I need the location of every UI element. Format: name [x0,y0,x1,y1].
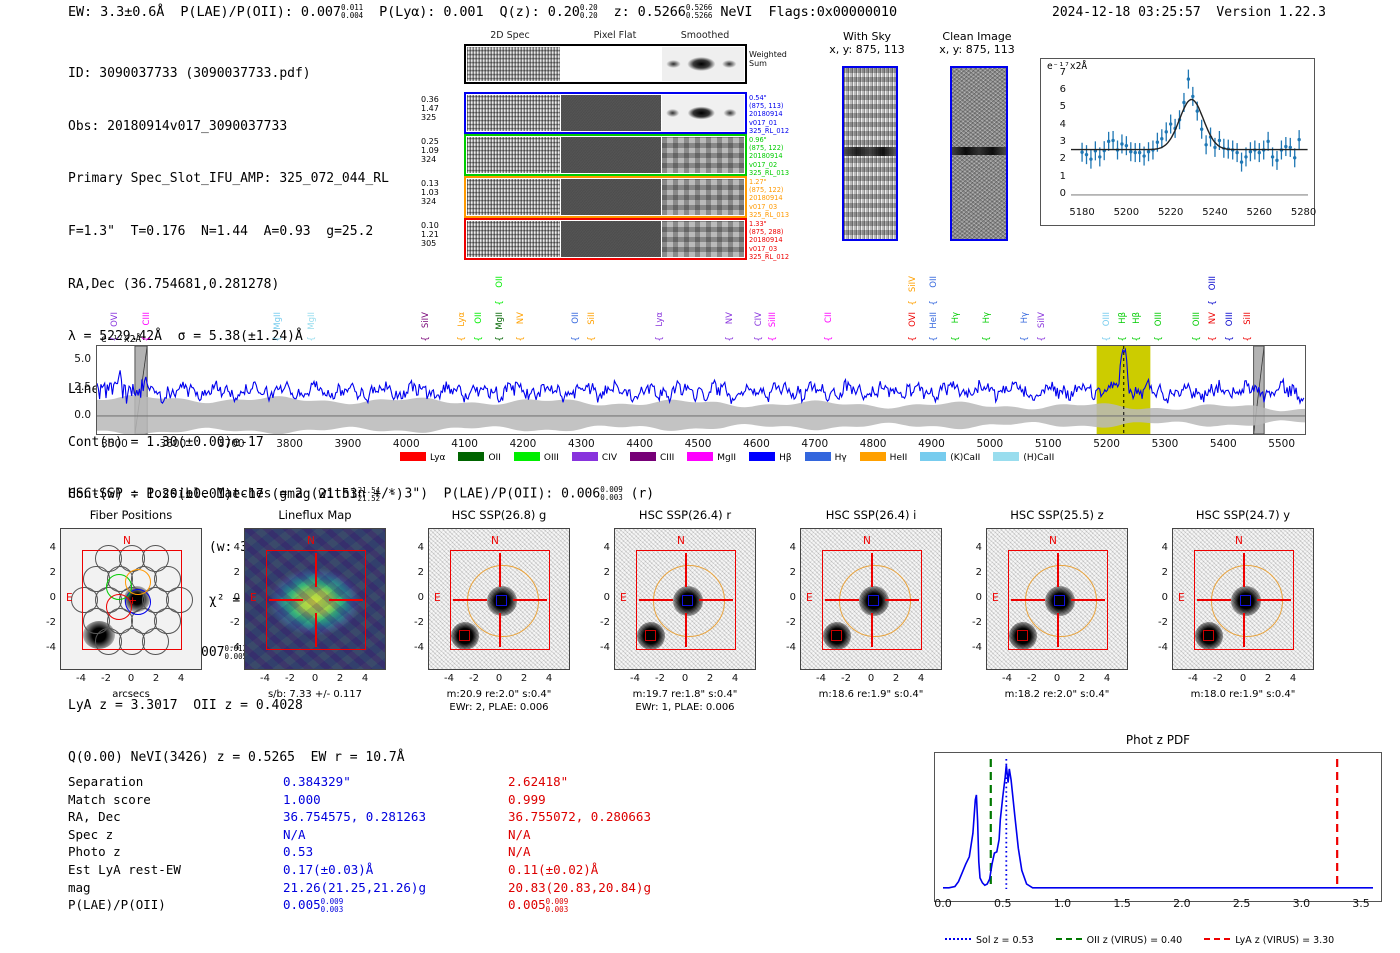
compass-n-label: N [123,535,131,547]
spectrum-line-marker-label: SiIV [908,276,918,292]
cutout-ytick: 2 [962,567,982,578]
spectrum-legend-swatch [805,452,831,461]
spec2d-fiber-value: 1.47 [421,104,453,113]
spectrum-xtick: 3800 [268,438,312,450]
cutout-subcaption: m:18.6 re:1.9" s:0.4" [774,688,968,701]
cutout-ytick: 2 [36,567,56,578]
spec2d-fiber-values: 0.251.09324 [421,137,453,164]
compass-e-label: E [250,592,257,604]
spectrum-line-marker-label: SiIV [1037,312,1047,328]
match-row-value-2: 36.755072, 0.280663 [508,808,651,826]
spectrum-xtick: 4200 [501,438,545,450]
photz-legend-label: LyA z (VIRUS) = 3.30 [1235,935,1334,946]
spec2d-fiber-smoothed [662,95,744,131]
spectrum-line-marker-label: NV [725,312,735,324]
photz-title: Phot z PDF [934,733,1382,747]
photz-xtick: 0.0 [925,897,961,910]
photz-xtick: 1.0 [1044,897,1080,910]
spectrum-line-marker-label: OIII [1192,312,1202,326]
cutout-xtick: 0 [672,673,698,684]
cutout-ytick: 4 [590,542,610,553]
photz-xtick: 3.5 [1343,897,1379,910]
spectrum-line-marker-brace: { [307,336,317,342]
cutout-crosshair-gap [487,587,513,613]
spec2d-col-title-2dspec: 2D Spec [455,30,565,41]
header-plya: P(Lyα): 0.001 [379,4,483,20]
cutout-ytick: 0 [776,592,796,603]
spectrum-legend-item: (H)CaII [993,452,1054,463]
emission-fit-xtick: 5180 [1065,207,1099,218]
cutout-subcaption-2: EWr: 2, PLAE: 0.006 [402,701,596,714]
spec2d-col-title-pixelflat: Pixel Flat [560,30,670,41]
cutout-image-band: NE [800,528,942,670]
cutout-image-lineflux: NE [244,528,386,670]
cutout-ytick: -4 [404,642,424,653]
spectrum-legend-swatch [630,452,656,461]
cutout-xtick: -4 [994,673,1020,684]
match-row-value-2: N/A [508,843,651,861]
spectrum-line-marker-label: Hγ [1020,312,1030,323]
spec2d-fiber-values: 0.101.21305 [421,221,453,248]
spectrum-line-marker-brace: { [725,336,735,342]
spectrum-legend-label: CIII [660,453,674,463]
spectrum-legend-item: Hγ [805,452,847,463]
compass-n-label: N [1049,535,1057,547]
cutout-xtick: 4 [722,673,748,684]
cutout-xtick: 4 [1280,673,1306,684]
spec2d-fiber-pixelflat [561,179,661,215]
spectrum-line-marker-brace: { [474,336,484,342]
cutout-xtick: 2 [511,673,537,684]
match-row-value-1: 36.754575, 0.281263 [283,808,508,826]
spectrum-line-marker-brace: { [1243,336,1253,342]
spectrum-xtick: 4900 [910,438,954,450]
spectrum-line-marker-brace: { [951,336,961,342]
spectrum-line-marker-brace: { [982,336,992,342]
spectrum-line-marker-brace: { [1132,336,1142,342]
spec2d-wsum-smoothed [662,47,744,81]
cutout-ytick: 0 [962,592,982,603]
spec2d-fiber-value: 305 [421,239,453,248]
cutout-xtick: 2 [883,673,909,684]
compass-n-label: N [863,535,871,547]
table-row: Spec zN/AN/A [68,826,651,844]
full-spectrum-ylabel: e⁻¹⁷x2Å [101,334,141,345]
cutout-ytick: 2 [776,567,796,578]
spectrum-line-marker-label: OII [929,276,939,288]
cutout-ytick: -2 [590,617,610,628]
spec2d-fiber-row [464,176,747,218]
spectrum-xtick: 4600 [734,438,778,450]
cutout-image-band: NE [428,528,570,670]
emission-fit-ytick: 3 [1051,136,1066,147]
spec2d-fiber-value: 0.36 [421,95,453,104]
photz-xtick: 3.0 [1283,897,1319,910]
cleanimage-title: Clean Imagex, y: 875, 113 [922,30,1032,56]
header-line-name: NeVI [720,4,752,20]
photz-legend-dash [1204,938,1230,940]
spectrum-legend-item: (K)CaII [920,452,980,463]
spectrum-legend-swatch [400,452,426,461]
spectrum-line-marker-label: CIII [142,312,152,325]
cutout-xtick: -2 [647,673,673,684]
cutout-ytick: 4 [1148,542,1168,553]
header-plae-bounds: 0.0110.004 [341,4,363,20]
spectrum-line-marker-label: OIII [1154,312,1164,326]
spectrum-xtick: 4000 [384,438,428,450]
cutout-xtick: -4 [436,673,462,684]
spectrum-line-marker-brace: { [824,336,834,342]
spectrum-line-marker-brace: { [1208,300,1218,306]
spectrum-line-marker-label: OVI [110,312,120,327]
cutout-xtick: 4 [908,673,934,684]
cutout-crosshair-gap [303,587,329,613]
emission-line-fit-chart: e⁻¹⁷x2Å [1040,58,1315,226]
spectrum-legend-swatch [458,452,484,461]
spectrum-legend-label: HeII [890,453,908,463]
photz-legend-item: Sol z = 0.53 [945,935,1034,946]
cutout-ytick: 0 [36,592,56,603]
spectrum-line-marker-brace: { [1192,336,1202,342]
full-spectrum-legend: LyαOIIOIIICIVCIIIMgIIHβHγHeII(K)CaII(H)C… [400,452,1067,463]
cutout-panel-title: HSC SSP(24.7) y [1154,508,1332,522]
cutout-ytick: -2 [404,617,424,628]
spec2d-fiber-meta: 1.27" (875, 122) 20180914 v017_03 325_RL… [749,178,789,219]
cutout-xtick: -2 [1205,673,1231,684]
info-id: ID: 3090037733 (3090037733.pdf) [68,65,405,83]
spectrum-line-marker-label: OVI [908,312,918,327]
cutout-xtick: -4 [622,673,648,684]
cutout-xtick: 2 [1069,673,1095,684]
match-row-value-1: 0.384329" [283,773,508,791]
emission-fit-ytick: 7 [1051,67,1066,78]
match-row-value-2: 0.999 [508,791,651,809]
spectrum-line-marker-brace: { [754,336,764,342]
hsc-header: HSC-SSP : Possible Matches = 2 (within +… [68,486,654,502]
spectrum-legend-swatch [687,452,713,461]
cleanimage-trace [952,147,1006,155]
spectrum-xtick: 3700 [209,438,253,450]
compass-e-label: E [434,592,441,604]
match-row-value-1: 0.0050.0090.003 [283,896,508,914]
cutout-ytick: -2 [220,617,240,628]
cutout-xtick: 2 [327,673,353,684]
info-primary-slot: Primary Spec_Slot_IFU_AMP: 325_072_044_R… [68,170,405,188]
spectrum-line-marker-brace: { [142,336,152,342]
spectrum-xtick: 5100 [1026,438,1070,450]
emission-fit-xtick: 5200 [1109,207,1143,218]
match-row-label: P(LAE)/P(OII) [68,896,283,914]
spectrum-xtick: 5200 [1085,438,1129,450]
spectrum-line-marker-brace: { [929,336,939,342]
cutout-ytick: -4 [962,642,982,653]
match-row-label: Match score [68,791,283,809]
compass-n-label: N [1235,535,1243,547]
cutout-panel-title: HSC SSP(26.8) g [410,508,588,522]
cutout-xtick: -2 [1019,673,1045,684]
photz-legend-dash [1056,938,1082,940]
cutout-image-band: NE [986,528,1128,670]
spectrum-legend-label: Lyα [430,453,445,463]
spectrum-legend-item: HeII [860,452,908,463]
spec2d-fiber-row [464,218,747,260]
info-obs: Obs: 20180914v017_3090037733 [68,118,405,136]
spectrum-legend-label: OII [488,453,500,463]
spectrum-legend-label: Hγ [835,453,847,463]
cutout-ytick: -2 [1148,617,1168,628]
spectrum-line-marker-label: CII [824,312,834,323]
photz-legend-item: OII z (VIRUS) = 0.40 [1056,935,1183,946]
cutout-xtick: -2 [461,673,487,684]
cutout-xtick: 2 [697,673,723,684]
cutout-xtick: 0 [1044,673,1070,684]
cutout-ytick: -4 [220,642,240,653]
spec2d-fiber-value: 324 [421,155,453,164]
photz-xtick: 2.0 [1164,897,1200,910]
spectrum-line-marker-label: OII [495,276,505,288]
spectrum-line-marker-brace: { [908,300,918,306]
emission-fit-xtick: 5220 [1154,207,1188,218]
cutout-subcaption: arcsecs [34,688,228,701]
spectrum-legend-label: MgII [717,453,736,463]
spectrum-line-marker-brace: { [495,300,505,306]
match-row-label: RA, Dec [68,808,283,826]
cutout-ytick: -4 [590,642,610,653]
spec2d-fiber-pixelflat [561,221,661,257]
spec2d-fiber-value: 324 [421,197,453,206]
table-row: Est LyA rest-EW0.17(±0.03)Å0.11(±0.02)Å [68,861,651,879]
cutout-ytick: 2 [220,567,240,578]
spec2d-fiber-smoothed [662,221,744,257]
header-z: z: 0.5266 [614,4,686,20]
spectrum-line-marker-brace: { [1225,336,1235,342]
emission-fit-xtick: 5280 [1287,207,1321,218]
spectrum-line-marker-brace: { [908,336,918,342]
emission-fit-ytick: 6 [1051,84,1066,95]
cutout-ytick: 2 [404,567,424,578]
spec2d-fiber-row [464,92,747,134]
spectrum-line-marker-label: HeII [929,312,939,329]
spectrum-line-marker-label: SiIII [768,312,778,327]
spectrum-legend-label: (H)CaII [1023,453,1054,463]
match-row-label: Spec z [68,826,283,844]
cutout-xtick: 4 [352,673,378,684]
spec2d-wsum-2d [467,47,560,81]
emission-fit-xtick: 5260 [1242,207,1276,218]
header-datetime: 2024-12-18 03:25:57 [1052,5,1201,20]
spectrum-line-marker-label: CIV [754,312,764,326]
spectrum-line-marker-brace: { [571,336,581,342]
cutout-ytick: 4 [220,542,240,553]
spec2d-fiber-value: 1.03 [421,188,453,197]
spec2d-fiber-meta: 0.54" (875, 113) 20180914 v017_01 325_RL… [749,94,789,135]
table-row: Separation0.384329"2.62418" [68,773,651,791]
cutout-ytick: -4 [1148,642,1168,653]
spec2d-fiber-value: 1.21 [421,230,453,239]
spectrum-line-marker-brace: { [1020,336,1030,342]
spectrum-line-marker-label: OIII [1208,276,1218,290]
match-row-label: Separation [68,773,283,791]
header-qz: Q(z): 0.20 [500,4,580,20]
spectrum-legend-item: CIV [572,452,617,463]
compass-e-label: E [620,592,627,604]
spec2d-fiber-2dspec [467,221,560,257]
spectrum-line-marker-label: Hγ [951,312,961,323]
cutout-subcaption: m:20.9 re:2.0" s:0.4" [402,688,596,701]
compass-n-label: N [491,535,499,547]
cutout-image-fiber: +NE [60,528,202,670]
cutout-image-band: NE [1172,528,1314,670]
spectrum-legend-swatch [993,452,1019,461]
cutout-ytick: 0 [590,592,610,603]
cutout-ytick: 2 [590,567,610,578]
photz-legend: Sol z = 0.53OII z (VIRUS) = 0.40LyA z (V… [945,935,1356,946]
cutout-ytick: 4 [404,542,424,553]
spectrum-legend-swatch [749,452,775,461]
cutout-ytick: 4 [962,542,982,553]
emission-fit-ytick: 2 [1051,153,1066,164]
cutout-crosshair-gap [859,587,885,613]
spec2d-fiber-2dspec [467,179,560,215]
spectrum-line-marker-label: SiIV [421,312,431,328]
spectrum-line-marker-label: NV [516,312,526,324]
spectrum-line-marker-brace: { [1154,336,1164,342]
cutout-xtick: -2 [277,673,303,684]
spectrum-legend-item: Lyα [400,452,445,463]
cutout-ytick: 0 [404,592,424,603]
header-summary-line: EW: 3.3±0.6Å P(LAE)/P(OII): 0.0070.0110.… [68,4,897,20]
spectrum-line-marker-label: SiII [1243,312,1253,325]
spectrum-xtick: 3500 [93,438,137,450]
spectrum-line-marker-brace: { [587,336,597,342]
spectrum-line-marker-brace: { [768,336,778,342]
spectrum-xtick: 4700 [793,438,837,450]
spec2d-fiber-smoothed [662,179,744,215]
cutout-ytick: 2 [1148,567,1168,578]
spec2d-fiber-values: 0.131.03324 [421,179,453,206]
spectrum-legend-item: Hβ [749,452,792,463]
spec2d-weighted-sum-label: Weighted Sum [749,50,787,68]
match-row-value-2: N/A [508,826,651,844]
cutout-ytick: -2 [776,617,796,628]
spec2d-fiber-meta: 0.96" (875, 122) 20180914 v017_02 325_RL… [749,136,789,177]
spectrum-line-marker-brace: { [1037,336,1047,342]
table-row: mag21.26(21.25,21.26)g20.83(20.83,20.84)… [68,879,651,897]
cutout-ytick: 0 [1148,592,1168,603]
spec2d-fiber-smoothed [662,137,744,173]
spectrum-legend-swatch [860,452,886,461]
spectrum-line-marker-label: Hβ [1132,312,1142,324]
spectrum-line-marker-label: OII [474,312,484,324]
photz-xtick: 2.5 [1224,897,1260,910]
spectrum-line-marker-label: NV [1208,312,1218,324]
spectrum-line-marker-brace: { [1102,336,1112,342]
info-seeing: F=1.3" T=0.176 N=1.44 A=0.93 g=25.2 [68,223,405,241]
cutout-panel-title: HSC SSP(26.4) r [596,508,774,522]
cutout-panel-title: Lineflux Map [226,508,404,522]
spectrum-legend-label: OIII [544,453,559,463]
photz-legend-label: OII z (VIRUS) = 0.40 [1087,935,1183,946]
spec2d-fiber-value: 1.09 [421,146,453,155]
spectrum-line-marker-label: MgII [273,312,283,330]
cutout-xtick: 0 [858,673,884,684]
spec2d-fiber-value: 325 [421,113,453,122]
compass-e-label: E [992,592,999,604]
spec2d-fiber-value: 0.13 [421,179,453,188]
header-flags: Flags:0x00000010 [769,4,897,20]
spectrum-line-marker-label: SiII [587,312,597,325]
emission-fit-ytick: 0 [1051,188,1066,199]
spec2d-weighted-sum-row [464,44,747,84]
spec2d-block: 2D Spec Pixel Flat Smoothed Weighted Sum… [455,30,755,260]
match-row-value-2: 20.83(20.83,20.84)g [508,879,651,897]
spec2d-fiber-2dspec [467,95,560,131]
spectrum-line-marker-brace: { [421,336,431,342]
spectrum-line-marker-label: MgII [307,312,317,330]
spectrum-line-marker-label: Hγ [982,312,992,323]
cutout-image-band: NE [614,528,756,670]
info-radec: RA,Dec (36.754681,0.281278) [68,276,405,294]
photz-xtick: 1.5 [1104,897,1140,910]
photz-legend-item: LyA z (VIRUS) = 3.30 [1204,935,1334,946]
spectrum-line-marker-brace: { [457,336,467,342]
photz-xtick: 0.5 [985,897,1021,910]
table-row: Match score1.0000.999 [68,791,651,809]
header-timestamp-version: 2024-12-18 03:25:57 Version 1.22.3 [1052,5,1326,20]
compass-n-label: N [307,535,315,547]
cutout-xtick: 2 [1255,673,1281,684]
spec2d-fiber-row [464,134,747,176]
spectrum-legend-label: CIV [602,453,617,463]
cutout-xtick: 2 [143,673,169,684]
match-row-value-2: 0.0050.0090.003 [508,896,651,914]
cutout-xtick: -2 [93,673,119,684]
spectrum-ytick: 0.0 [61,409,91,421]
cutout-subcaption-2: EWr: 1, PLAE: 0.006 [588,701,782,714]
match-table: Separation0.384329"2.62418"Match score1.… [68,773,651,914]
cutout-xtick: 0 [1230,673,1256,684]
cutout-ytick: -2 [962,617,982,628]
spec2d-fiber-value: 0.10 [421,221,453,230]
spectrum-legend-swatch [572,452,598,461]
cutout-ytick: 0 [220,592,240,603]
match-row-value-1: 21.26(21.25,21.26)g [283,879,508,897]
spectrum-xtick: 3600 [151,438,195,450]
header-plae-poii: P(LAE)/P(OII): 0.007 [180,4,341,20]
spectrum-line-marker-brace: { [273,336,283,342]
cutout-xtick: -4 [808,673,834,684]
spectrum-line-marker-label: Hβ [1118,312,1128,324]
spectrum-legend-item: OII [458,452,500,463]
cutout-ytick: -2 [36,617,56,628]
compass-n-label: N [677,535,685,547]
spectrum-legend-label: Hβ [779,453,792,463]
match-row-value-2: 2.62418" [508,773,651,791]
compass-e-label: E [806,592,813,604]
cutout-ytick: -4 [776,642,796,653]
spec2d-fiber-pixelflat [561,137,661,173]
cutout-xtick: 0 [486,673,512,684]
cutout-subcaption: s/b: 7.33 +/- 0.117 [218,688,412,701]
spectrum-line-marker-label: Lyα [655,312,665,327]
spectrum-legend-swatch [514,452,540,461]
header-qz-bounds: 0.200.20 [580,4,598,20]
cutout-ifu-box [82,550,182,650]
spectrum-legend-item: CIII [630,452,674,463]
spectrum-xtick: 4100 [443,438,487,450]
spectrum-xtick: 4300 [559,438,603,450]
table-row: P(LAE)/P(OII)0.0050.0090.0030.0050.0090.… [68,896,651,914]
